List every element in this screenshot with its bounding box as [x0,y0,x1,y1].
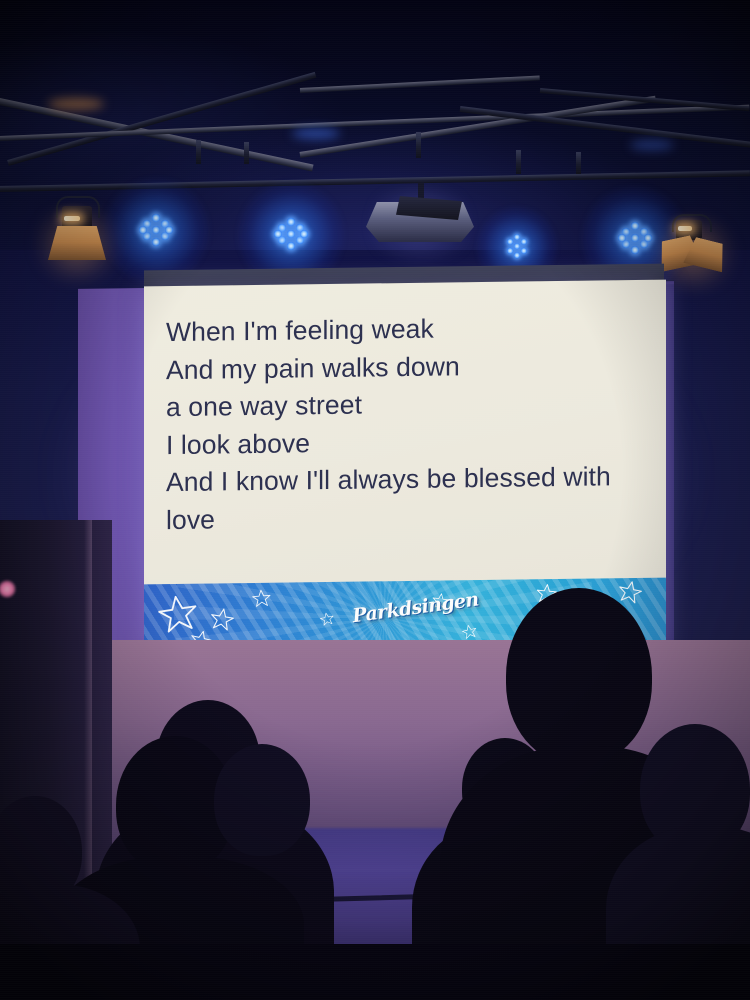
led-par-light-2 [268,212,314,258]
led-par-light-1 [133,208,179,254]
light-clamp-2 [244,142,249,164]
banner-star-icon [616,578,644,606]
lyric-text-block: When I'm feeling weak And my pain walks … [166,308,644,539]
audience-head-5 [506,588,652,764]
fresnel-lamp-glow [678,226,692,231]
lyric-line-6: love [166,495,644,539]
light-clamp-3 [416,132,421,158]
truss-highlight-blue [292,128,340,139]
led-dot-cluster [274,218,308,252]
fresnel-light-left [44,196,110,268]
led-par-light-3 [500,230,535,265]
banner-star-icon [251,588,271,609]
lyric-line-4: I look above [166,420,644,464]
fresnel-lamp-glow [64,216,80,221]
audience-foreground-row [0,944,750,1000]
ceiling-projector [366,196,474,248]
led-dot-cluster [504,234,530,260]
lyric-line-3: a one way street [166,383,644,427]
light-clamp-4 [516,150,521,174]
banner-star-icon [319,611,335,627]
led-dot-cluster [139,214,173,248]
light-clamp-5 [576,152,581,174]
truss-highlight-amber [48,98,104,110]
lyric-line-1: When I'm feeling weak [166,308,644,352]
stage-photo-scene: When I'm feeling weak And my pain walks … [0,0,750,1000]
banner-star-icon [208,606,236,634]
truss-highlight-blue-right [630,140,674,150]
light-clamp-1 [196,140,201,164]
audience-head-3 [214,744,310,856]
projector-mount [418,182,424,200]
fresnel-barn-doors [48,226,106,260]
lyric-line-2: And my pain walks down [166,345,644,389]
lyric-line-5: And I know I'll always be blessed with [166,458,644,502]
